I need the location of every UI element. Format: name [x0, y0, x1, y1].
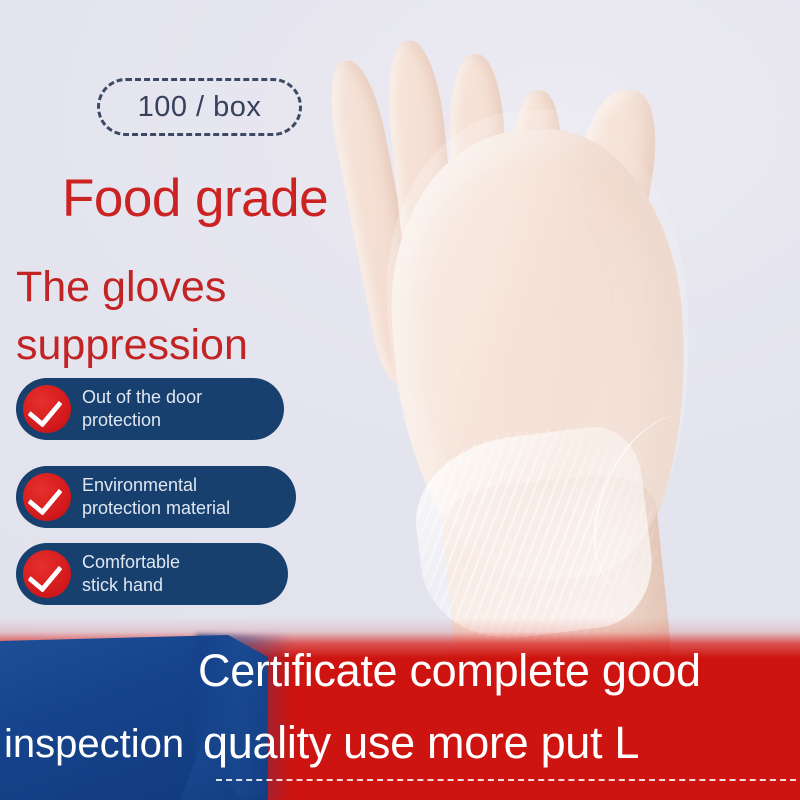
gloved-hand-image	[300, 0, 800, 680]
check-circle-icon	[23, 550, 71, 598]
feature-pill-1-line1: Out of the door	[82, 386, 202, 409]
feature-pill-2-line2: protection material	[82, 497, 230, 520]
banner-dashed-rule	[216, 779, 796, 781]
feature-pill-1[interactable]: Out of the door protection	[16, 378, 284, 440]
feature-pill-3-line2: stick hand	[82, 574, 180, 597]
feature-pill-3-line1: Comfortable	[82, 551, 180, 574]
banner-headline-line2: quality use more put L	[203, 717, 639, 769]
feature-pill-2-text: Environmental protection material	[82, 474, 238, 520]
banner-inspection-label: inspection	[4, 722, 184, 767]
check-circle-icon	[23, 473, 71, 521]
promo-poster: 100 / box Food grade The gloves suppress…	[0, 0, 800, 800]
quantity-badge-label: 100 / box	[138, 91, 262, 124]
headline-subtitle-line2: suppression	[16, 316, 248, 374]
feature-pill-3[interactable]: Comfortable stick hand	[16, 543, 288, 605]
feature-pill-3-text: Comfortable stick hand	[82, 551, 188, 597]
feature-pill-1-text: Out of the door protection	[82, 386, 210, 432]
feature-pill-2[interactable]: Environmental protection material	[16, 466, 296, 528]
feature-pill-2-line1: Environmental	[82, 474, 230, 497]
headline-subtitle-line1: The gloves	[16, 258, 248, 316]
check-circle-icon	[23, 385, 71, 433]
page-title: Food grade	[62, 168, 328, 229]
banner-headline-line1: Certificate complete good	[198, 645, 701, 697]
headline-subtitle: The gloves suppression	[16, 258, 248, 374]
feature-pill-1-line2: protection	[82, 409, 202, 432]
quantity-badge: 100 / box	[97, 78, 302, 136]
